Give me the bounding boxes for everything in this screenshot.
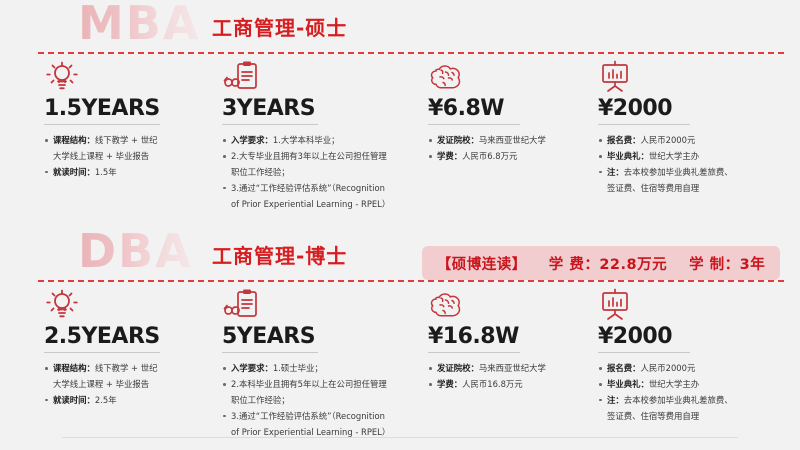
detail-list: 课程结构：线下教学 + 世纪 大学线上课程 + 毕业报告 就读时间：2.5年: [44, 362, 224, 408]
list-item: 报名费：人民币2000元: [598, 362, 794, 376]
list-item: 2.大专毕业且拥有3年以上在公司担任管理: [222, 150, 422, 164]
clipboard-glasses-icon: [222, 60, 422, 94]
list-item: of Prior Experiential Learning - RPEL）: [222, 198, 422, 212]
column-duration: 1.5YEARS 课程结构：线下教学 + 世纪 大学线上课程 + 毕业报告 就读…: [44, 60, 224, 182]
presentation-chart-icon: [598, 288, 794, 322]
watermark-text: DBA: [78, 224, 193, 278]
list-item: 注：去本校参加毕业典礼差旅费、: [598, 166, 794, 180]
brain-icon: [428, 288, 588, 322]
bottom-divider: [62, 437, 738, 438]
metric-value: 1.5YEARS: [44, 97, 160, 125]
column-fees: ¥2000 报名费：人民币2000元 毕业典礼：世纪大学主办 注：去本校参加毕业…: [598, 288, 794, 426]
column-tuition: ¥16.8W 发证院校：马来西亚世纪大学 学费：人民币16.8万元: [428, 288, 588, 394]
column-duration: 2.5YEARS 课程结构：线下教学 + 世纪 大学线上课程 + 毕业报告 就读…: [44, 288, 224, 410]
watermark-text: MBA: [78, 0, 200, 50]
metric-value: ¥6.8W: [428, 97, 520, 125]
section-title: 工商管理-博士: [212, 240, 347, 269]
clipboard-glasses-icon: [222, 288, 422, 322]
list-item: 毕业典礼：世纪大学主办: [598, 150, 794, 164]
column-requirements: 5YEARS 入学要求：1.硕士毕业； 2.本科毕业且拥有5年以上在公司担任管理…: [222, 288, 422, 441]
list-item: 学费：人民币6.8万元: [428, 150, 588, 164]
list-item: 毕业典礼：世纪大学主办: [598, 378, 794, 392]
column-tuition: ¥6.8W 发证院校：马来西亚世纪大学 学费：人民币6.8万元: [428, 60, 588, 166]
list-item: 报名费：人民币2000元: [598, 134, 794, 148]
column-requirements: 3YEARS 入学要求：1.大学本科毕业； 2.大专毕业且拥有3年以上在公司担任…: [222, 60, 422, 213]
detail-list: 入学要求：1.大学本科毕业； 2.大专毕业且拥有3年以上在公司担任管理 职位工作…: [222, 134, 422, 211]
section-title: 工商管理-硕士: [212, 12, 347, 41]
promo-tuition: 学 费：22.8万元: [549, 253, 667, 274]
detail-list: 入学要求：1.硕士毕业； 2.本科毕业且拥有5年以上在公司担任管理 职位工作经验…: [222, 362, 422, 439]
metric-value: ¥16.8W: [428, 325, 520, 353]
metric-value: 3YEARS: [222, 97, 318, 125]
metric-value: 5YEARS: [222, 325, 318, 353]
presentation-chart-icon: [598, 60, 794, 94]
brain-icon: [428, 60, 588, 94]
list-item: 课程结构：线下教学 + 世纪: [44, 362, 224, 376]
detail-list: 报名费：人民币2000元 毕业典礼：世纪大学主办 注：去本校参加毕业典礼差旅费、…: [598, 134, 794, 195]
list-item: 课程结构：线下教学 + 世纪: [44, 134, 224, 148]
list-item: 发证院校：马来西亚世纪大学: [428, 362, 588, 376]
dashed-divider: [38, 280, 784, 282]
column-fees: ¥2000 报名费：人民币2000元 毕业典礼：世纪大学主办 注：去本校参加毕业…: [598, 60, 794, 198]
list-item: 就读时间：1.5年: [44, 166, 224, 180]
section-mba: MBA 工商管理-硕士 1.5YEARS: [0, 0, 800, 225]
detail-list: 发证院校：马来西亚世纪大学 学费：人民币16.8万元: [428, 362, 588, 392]
section-header: MBA 工商管理-硕士: [0, 0, 800, 52]
list-item: 签证费、住宿等费用自理: [598, 182, 794, 196]
detail-list: 课程结构：线下教学 + 世纪 大学线上课程 + 毕业报告 就读时间：1.5年: [44, 134, 224, 180]
metric-value: ¥2000: [598, 97, 690, 125]
list-item: 职位工作经验；: [222, 394, 422, 408]
lightbulb-icon: [44, 60, 224, 94]
list-item: 注：去本校参加毕业典礼差旅费、: [598, 394, 794, 408]
list-item: 3.通过“工作经验评估系统”（Recognition: [222, 410, 422, 424]
list-item: 3.通过“工作经验评估系统”（Recognition: [222, 182, 422, 196]
list-item: 入学要求：1.硕士毕业；: [222, 362, 422, 376]
list-item: 学费：人民币16.8万元: [428, 378, 588, 392]
metric-value: ¥2000: [598, 325, 690, 353]
lightbulb-icon: [44, 288, 224, 322]
metric-value: 2.5YEARS: [44, 325, 160, 353]
list-item: 发证院校：马来西亚世纪大学: [428, 134, 588, 148]
detail-list: 发证院校：马来西亚世纪大学 学费：人民币6.8万元: [428, 134, 588, 164]
list-item: 就读时间：2.5年: [44, 394, 224, 408]
list-item: 入学要求：1.大学本科毕业；: [222, 134, 422, 148]
list-item: 大学线上课程 + 毕业报告: [44, 378, 224, 392]
list-item: 2.本科毕业且拥有5年以上在公司担任管理: [222, 378, 422, 392]
list-item: 职位工作经验；: [222, 166, 422, 180]
dashed-divider: [38, 52, 784, 54]
detail-list: 报名费：人民币2000元 毕业典礼：世纪大学主办 注：去本校参加毕业典礼差旅费、…: [598, 362, 794, 423]
poster-root: MBA 工商管理-硕士 1.5YEARS: [0, 0, 800, 450]
promo-duration: 学 制：3年: [689, 253, 765, 274]
promo-badge: 【硕博连读】: [437, 253, 527, 274]
list-item: 签证费、住宿等费用自理: [598, 410, 794, 424]
list-item: 大学线上课程 + 毕业报告: [44, 150, 224, 164]
promo-banner: 【硕博连读】 学 费：22.8万元 学 制：3年: [422, 246, 780, 280]
